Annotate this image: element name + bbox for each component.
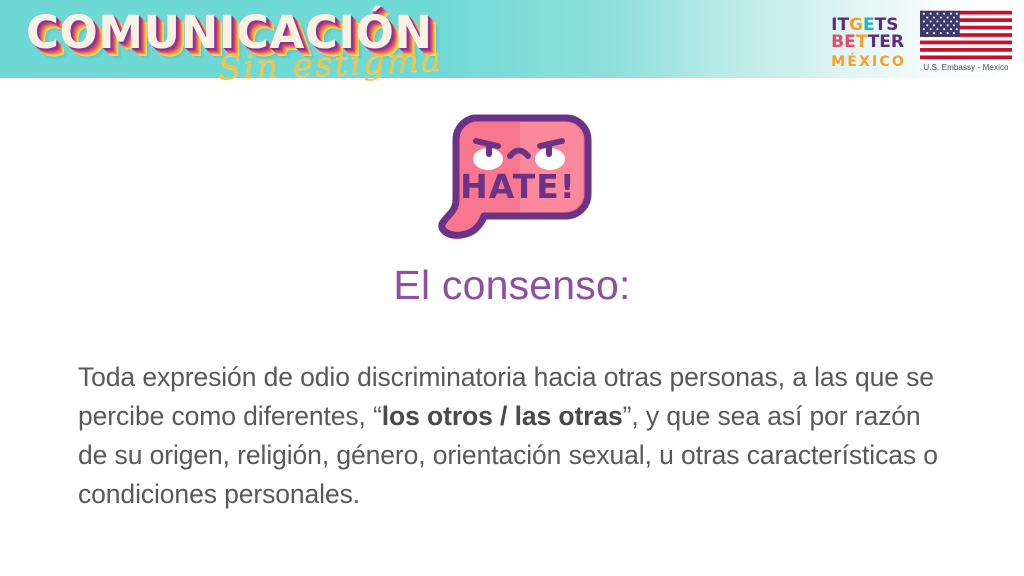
slide-body-paragraph: Toda expresión de odio discriminatoria h… bbox=[78, 358, 950, 514]
igb-logo-t: T bbox=[856, 32, 868, 52]
us-flag-icon bbox=[920, 10, 1012, 60]
header-script-subtitle: Sin estigma bbox=[217, 39, 444, 89]
igb-logo-be: BE bbox=[831, 32, 856, 52]
it-gets-better-mexico-logo[interactable]: ITGETS BETTER MÉXICO bbox=[831, 8, 906, 71]
hate-bubble-icon: HATE! bbox=[432, 112, 594, 240]
slide-title: El consenso: bbox=[0, 262, 1024, 309]
igb-logo-line-2: BETTER bbox=[831, 34, 906, 51]
igb-logo-mexico: MÉXICO bbox=[831, 51, 906, 71]
hate-bubble-text: HATE! bbox=[460, 167, 576, 206]
body-segment-bold: los otros / las otras bbox=[382, 401, 623, 431]
us-embassy-caption: U.S. Embassy - Mexico bbox=[920, 60, 1012, 72]
us-embassy-logo[interactable]: U.S. Embassy - Mexico bbox=[920, 8, 1012, 72]
logo-group: ITGETS BETTER MÉXICO bbox=[831, 8, 1012, 72]
igb-logo-ter: TER bbox=[868, 32, 904, 52]
hate-speech-bubble-illustration: HATE! bbox=[432, 112, 594, 240]
